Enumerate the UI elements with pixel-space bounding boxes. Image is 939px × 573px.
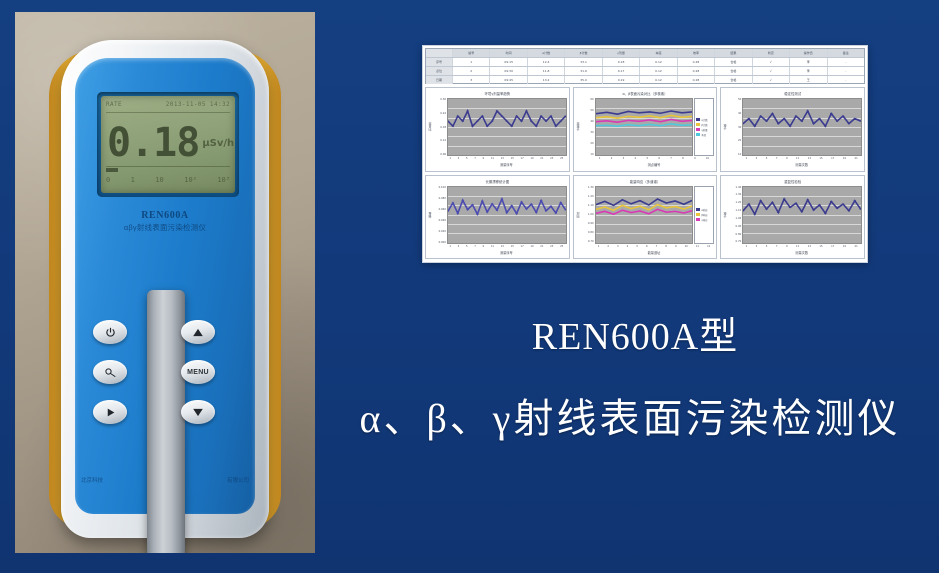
chart-data-point xyxy=(525,208,528,209)
chart-plot-area xyxy=(447,186,567,244)
chart-y-ticks: 1.301.201.101.000.900.800.70 xyxy=(581,186,595,244)
chart-y-tick: 20 xyxy=(738,139,741,142)
table-cell: 12.4 xyxy=(528,58,565,66)
chart-data-point xyxy=(605,120,607,121)
chart-data-point xyxy=(510,126,513,127)
chart-data-point xyxy=(682,212,684,213)
chart-x-tick: 7 xyxy=(474,156,476,162)
legend-swatch xyxy=(696,123,700,126)
chart-x-tick: 7 xyxy=(670,156,672,162)
chart-data-point xyxy=(777,211,780,212)
chart-data-point xyxy=(783,118,786,119)
table-column-header: 判定 xyxy=(753,49,790,57)
chart-data-point xyxy=(555,126,558,127)
device-model-text: REN600A xyxy=(75,210,255,221)
chart-x-tick: 23 xyxy=(550,244,553,250)
chart-y-tick: 1.20 xyxy=(736,201,742,204)
chart-y-ticks: 0.300.240.180.120.06 xyxy=(433,98,447,156)
chart-x-tick: 21 xyxy=(854,244,857,250)
chart-x-tick: 1 xyxy=(746,244,748,250)
chart-x-tick: 23 xyxy=(550,156,553,162)
table-cell: 13.2 xyxy=(528,76,565,84)
chart-x-tick: 3 xyxy=(756,244,758,250)
chart-data-point xyxy=(748,118,751,119)
table-cell: 0.12 xyxy=(640,67,677,75)
chart-y-ticks: 1.401.301.201.101.000.900.800.70 xyxy=(728,186,742,244)
magnifier-icon xyxy=(104,367,117,378)
chart-data-point xyxy=(682,203,684,204)
chart-data-point xyxy=(616,114,618,115)
chart-card: 环境γ剂量率趋势剂量率0.300.240.180.120.06135791113… xyxy=(425,87,570,172)
chart-series-line xyxy=(596,115,693,118)
chart-data-point xyxy=(491,121,494,122)
chart-y-ticks: 605040302010 xyxy=(581,98,595,156)
chart-data-point xyxy=(766,121,769,122)
lcd-bezel: RATE 2013-11-05 14:32 0.18 μSv/h 011010²… xyxy=(97,92,239,197)
lcd-screen: RATE 2013-11-05 14:32 0.18 μSv/h 011010²… xyxy=(101,96,235,193)
chart-data-point xyxy=(481,200,484,201)
chart-card: α、β表面污染对比（多核素）计数率605040302010α计数β计数γ剂量本底… xyxy=(573,87,718,172)
chart-data-point xyxy=(638,121,640,122)
chart-y-tick: 0.70 xyxy=(588,240,594,243)
table-column-header: 备注 xyxy=(828,49,864,57)
chart-x-tick: 17 xyxy=(831,244,834,250)
chart-y-tick: 1.40 xyxy=(736,186,742,189)
table-cell: 李 xyxy=(790,67,827,75)
chart-data-point xyxy=(670,110,672,111)
chart-data-point xyxy=(647,209,649,210)
chart-data-point xyxy=(807,110,810,111)
chart-data-point xyxy=(647,204,649,205)
table-cell: 0.12 xyxy=(640,76,677,84)
chart-series-line xyxy=(743,111,861,126)
chart-data-point xyxy=(530,203,533,204)
chart-x-tick: 13 xyxy=(808,156,811,162)
chart-series-line xyxy=(596,199,693,205)
chart-y-tick: 10 xyxy=(590,153,593,156)
chart-x-tick: 15 xyxy=(511,244,514,250)
chart-x-tick: 5 xyxy=(466,244,468,250)
chart-y-tick: 0.100 xyxy=(439,186,446,189)
chart-y-tick: 0.80 xyxy=(588,231,594,234)
chart-x-tick: 11 xyxy=(796,244,799,250)
chart-y-tick: 1.20 xyxy=(588,195,594,198)
chart-y-tick: 1.30 xyxy=(736,193,742,196)
chart-data-point xyxy=(452,126,455,127)
down-button[interactable] xyxy=(181,400,215,424)
lcd-scale-tick: 10³ xyxy=(217,176,230,184)
chart-x-tick: 7 xyxy=(474,244,476,250)
chart-data-point xyxy=(771,201,774,202)
chart-data-point xyxy=(681,125,683,126)
table-row-header: 序号 xyxy=(426,58,453,66)
chart-x-tick: 12 xyxy=(707,244,710,250)
chart-data-point xyxy=(476,121,479,122)
chart-x-tick: 11 xyxy=(491,156,494,162)
lcd-bargraph xyxy=(106,166,230,173)
chart-series-svg xyxy=(596,99,693,155)
chart-data-point xyxy=(848,210,851,211)
lcd-scale-tick: 10 xyxy=(155,176,163,184)
chart-x-tick: 21 xyxy=(540,244,543,250)
chart-data-point xyxy=(819,118,822,119)
chart-data-point xyxy=(525,110,528,111)
lcd-bargraph-fill xyxy=(106,168,118,172)
chart-data-point xyxy=(674,205,676,206)
chart-series-line xyxy=(596,204,693,210)
chart-x-tick: 19 xyxy=(843,156,846,162)
search-button[interactable] xyxy=(93,360,127,384)
chart-x-tick: 1 xyxy=(746,156,748,162)
chart-y-tick: 0.24 xyxy=(440,112,446,115)
chart-series-svg xyxy=(448,99,566,155)
chart-data-point xyxy=(754,213,757,214)
chart-data-point xyxy=(540,115,543,116)
chart-data-point xyxy=(627,124,629,125)
chart-y-tick: 1.00 xyxy=(736,217,742,220)
chart-data-point xyxy=(486,211,489,212)
chart-data-point xyxy=(515,115,518,116)
chart-y-tick: 1.30 xyxy=(588,186,594,189)
play-button[interactable] xyxy=(93,400,127,424)
chart-data-point xyxy=(842,115,845,116)
chart-data-point xyxy=(545,210,548,211)
chart-data-point xyxy=(540,199,543,200)
chart-x-tick: 9 xyxy=(675,244,677,250)
chart-x-tick: 21 xyxy=(540,156,543,162)
chart-x-tick: 1 xyxy=(449,156,451,162)
table-cell: √ xyxy=(753,67,790,75)
chart-series-line xyxy=(596,111,693,114)
table-cell: 0.28 xyxy=(678,76,715,84)
legend-item: α计数 xyxy=(696,118,712,122)
chart-series-line xyxy=(596,124,693,126)
table-column-header: 时间 xyxy=(490,49,527,57)
chart-y-tick: 0.80 xyxy=(736,233,742,236)
chart-y-tick: 10 xyxy=(738,153,741,156)
chart-data-point xyxy=(506,212,509,213)
table-cell: 0.12 xyxy=(640,58,677,66)
play-icon xyxy=(105,407,116,418)
chart-data-point xyxy=(659,113,661,114)
legend-label: α响应 xyxy=(701,208,707,212)
chart-data-point xyxy=(639,205,641,206)
chart-x-axis-label: 测量次数 xyxy=(741,162,862,169)
chart-data-point xyxy=(748,203,751,204)
chart-series-line xyxy=(448,111,566,126)
chart-y-tick: 50 xyxy=(590,109,593,112)
table-cell: 0.19 xyxy=(603,76,640,84)
chart-series-line xyxy=(596,119,693,122)
chart-data-point xyxy=(605,125,607,126)
chart-data-point xyxy=(627,111,629,112)
lcd-value: 0.18 xyxy=(107,124,199,162)
chart-series-line xyxy=(596,209,693,214)
chart-y-axis-label: 计数 xyxy=(723,98,728,156)
chart-data-point xyxy=(510,205,513,206)
table-column-header: 本底 xyxy=(640,49,677,57)
chart-data-point xyxy=(555,212,558,213)
chart-data-point xyxy=(819,204,822,205)
power-icon xyxy=(105,327,116,338)
chart-y-tick: 1.10 xyxy=(588,204,594,207)
chart-data-point xyxy=(681,121,683,122)
chart-title: 稳定性测试 xyxy=(723,90,862,98)
device-chinese-text: αβγ射线表面污染检测仪 xyxy=(75,222,255,233)
chart-data-point xyxy=(665,211,667,212)
chart-data-point xyxy=(813,209,816,210)
chart-x-tick: 4 xyxy=(635,156,637,162)
chart-data-point xyxy=(854,118,857,119)
chart-x-tick: 3 xyxy=(756,156,758,162)
device-printed-label: REN600A αβγ射线表面污染检测仪 xyxy=(75,210,255,233)
chart-card: 稳定性测试计数504030201013579111315171921测量次数 xyxy=(720,87,865,172)
chart-y-ticks: 0.1000.0800.0600.0400.0200.000 xyxy=(433,186,447,244)
chart-x-axis-label: 测点编号 xyxy=(594,162,715,169)
table-row[interactable]: 日期309:4513.235.00.190.120.28合格√王- xyxy=(426,76,864,84)
chart-data-point xyxy=(466,110,469,111)
table-column-header: β计数 xyxy=(565,49,602,57)
chart-x-tick: 9 xyxy=(483,244,485,250)
legend-swatch xyxy=(696,128,700,131)
legend-item: β响应 xyxy=(696,213,712,217)
chart-data-point xyxy=(801,121,804,122)
chart-data-point xyxy=(647,213,649,214)
legend-swatch xyxy=(696,213,700,216)
chart-plot-row: 计数率605040302010α计数β计数γ剂量本底 xyxy=(576,98,715,156)
chart-x-axis-label: 测量序号 xyxy=(446,250,567,257)
table-row[interactable]: 点位209:3011.831.60.170.120.28合格√李- xyxy=(426,67,864,76)
table-cell: 李 xyxy=(790,58,827,66)
chart-data-point xyxy=(771,113,774,114)
chart-data-point xyxy=(471,126,474,127)
table-cell: 0.28 xyxy=(678,58,715,66)
chart-legend: α计数β计数γ剂量本底 xyxy=(694,98,714,156)
table-cell: 09:30 xyxy=(490,67,527,75)
chart-data-point xyxy=(659,117,661,118)
chart-data-point xyxy=(830,200,833,201)
chart-x-tick: 19 xyxy=(530,156,533,162)
chart-data-point xyxy=(457,115,460,116)
legend-item: γ剂量 xyxy=(696,128,712,132)
chart-x-tick: 3 xyxy=(617,244,619,250)
chart-x-tick: 19 xyxy=(843,244,846,250)
chart-y-tick: 0.12 xyxy=(440,139,446,142)
chart-data-point xyxy=(824,126,827,127)
table-column-header: 操作员 xyxy=(790,49,827,57)
chart-data-point xyxy=(848,123,851,124)
table-column-header: α计数 xyxy=(528,49,565,57)
chart-data-point xyxy=(461,199,464,200)
legend-swatch xyxy=(696,133,700,136)
chart-data-point xyxy=(682,208,684,209)
chart-plot-row: 计数5040302010 xyxy=(723,98,862,156)
table-cell: 合格 xyxy=(715,58,752,66)
chart-card: 长期漂移统计图偏差0.1000.0800.0600.0400.0200.0001… xyxy=(425,175,570,260)
chart-plot-area xyxy=(595,98,694,156)
chart-x-tick: 9 xyxy=(483,156,485,162)
chart-data-point xyxy=(452,202,455,203)
up-button[interactable] xyxy=(181,320,215,344)
chart-card: 能量响应（多道谱）响应1.301.201.101.000.900.800.70α… xyxy=(573,175,718,260)
chart-data-point xyxy=(665,202,667,203)
chart-data-point xyxy=(486,126,489,127)
table-cell: 2 xyxy=(453,67,490,75)
chart-grid: 环境γ剂量率趋势剂量率0.300.240.180.120.06135791113… xyxy=(425,87,865,259)
chart-data-point xyxy=(501,198,504,199)
software-screenshot-inset: 编号时间α计数β计数γ剂量本底效率结果判定操作员备注序号109:1512.433… xyxy=(422,45,868,263)
power-button[interactable] xyxy=(93,320,127,344)
chart-x-tick: 3 xyxy=(458,244,460,250)
chart-series-line xyxy=(448,199,566,214)
chart-data-point xyxy=(520,201,523,202)
table-column-header: 编号 xyxy=(453,49,490,57)
chart-plot-row: 计数1.401.301.201.101.000.900.800.70 xyxy=(723,186,862,244)
lcd-scale: 011010²10³ xyxy=(106,176,230,184)
lcd-scale-tick: 10² xyxy=(184,176,197,184)
chart-y-tick: 0.90 xyxy=(588,222,594,225)
chart-x-tick: 3 xyxy=(458,156,460,162)
chart-x-tick: 9 xyxy=(786,156,788,162)
table-cell: 09:45 xyxy=(490,76,527,84)
chart-data-point xyxy=(627,116,629,117)
chart-data-point xyxy=(630,211,632,212)
chart-y-tick: 0.040 xyxy=(439,219,446,222)
chart-x-tick: 11 xyxy=(696,244,699,250)
table-cell: √ xyxy=(753,58,790,66)
chart-y-axis-label: 剂量率 xyxy=(428,98,433,156)
chart-x-tick: 13 xyxy=(501,244,504,250)
chart-x-tick: 9 xyxy=(786,244,788,250)
chart-series-svg xyxy=(596,187,693,243)
chart-data-point xyxy=(476,213,479,214)
chart-data-point xyxy=(836,207,839,208)
chart-title: 能量响应（多道谱） xyxy=(576,178,715,186)
device-foot-right: 有限公司 xyxy=(227,476,249,484)
chart-data-point xyxy=(638,112,640,113)
chart-y-axis-label: 计数率 xyxy=(576,98,581,156)
legend-swatch xyxy=(696,208,700,211)
chart-data-point xyxy=(777,123,780,124)
chart-data-point xyxy=(506,121,509,122)
chart-x-tick: 21 xyxy=(854,156,857,162)
device-foot-left: 北京科技 xyxy=(81,476,103,484)
chart-x-tick: 15 xyxy=(819,156,822,162)
table-cell: 35.0 xyxy=(565,76,602,84)
chart-data-point xyxy=(616,126,618,127)
chart-data-point xyxy=(670,119,672,120)
table-row[interactable]: 序号109:1512.433.10.180.120.28合格√李- xyxy=(426,58,864,67)
chart-y-tick: 60 xyxy=(590,98,593,101)
chart-data-point xyxy=(836,121,839,122)
legend-label: β计数 xyxy=(701,123,707,127)
chart-plot-row: 响应1.301.201.101.000.900.800.70α响应β响应γ响应 xyxy=(576,186,715,244)
legend-label: α计数 xyxy=(701,118,707,122)
triangle-down-icon xyxy=(192,407,204,418)
chart-data-point xyxy=(603,206,605,207)
chart-data-point xyxy=(605,112,607,113)
chart-y-tick: 0.90 xyxy=(736,225,742,228)
chart-data-point xyxy=(612,209,614,210)
table-cell: 11.8 xyxy=(528,67,565,75)
chart-data-point xyxy=(627,120,629,121)
table-cell: - xyxy=(828,58,864,66)
chart-data-point xyxy=(824,212,827,213)
lcd-divider xyxy=(106,112,230,113)
chart-data-point xyxy=(616,118,618,119)
chart-x-tick: 7 xyxy=(776,244,778,250)
triangle-up-icon xyxy=(192,327,204,338)
table-cell: 合格 xyxy=(715,76,752,84)
chart-series-svg xyxy=(448,187,566,243)
slide-root: RATE 2013-11-05 14:32 0.18 μSv/h 011010²… xyxy=(0,0,939,573)
chart-x-tick: 3 xyxy=(623,156,625,162)
legend-item: 本底 xyxy=(696,133,712,137)
chart-series-svg xyxy=(743,99,861,155)
table-cell: - xyxy=(828,76,864,84)
table-cell: 王 xyxy=(790,76,827,84)
chart-x-tick: 13 xyxy=(808,244,811,250)
chart-data-point xyxy=(648,124,650,125)
chart-y-tick: 0.30 xyxy=(440,98,446,101)
chart-data-point xyxy=(760,200,763,201)
chart-plot-row: 偏差0.1000.0800.0600.0400.0200.000 xyxy=(428,186,567,244)
chart-data-point xyxy=(621,199,623,200)
chart-plot-area xyxy=(742,98,862,156)
chart-data-point xyxy=(612,213,614,214)
chart-data-point xyxy=(801,211,804,212)
title-block: REN600A型 α、β、γ射线表面污染检测仪 xyxy=(330,305,930,444)
chart-title: 环境γ剂量率趋势 xyxy=(428,90,567,98)
chart-data-point xyxy=(481,115,484,116)
chart-data-point xyxy=(854,200,857,201)
legend-label: γ响应 xyxy=(701,218,707,222)
chart-x-tick: 10 xyxy=(685,244,688,250)
chart-x-tick: 11 xyxy=(491,244,494,250)
chart-data-point xyxy=(466,209,469,210)
chart-y-tick: 40 xyxy=(738,112,741,115)
menu-button[interactable]: MENU xyxy=(181,360,215,384)
lcd-status-left: RATE xyxy=(106,101,122,108)
chart-data-point xyxy=(656,198,658,199)
table-cell: 31.6 xyxy=(565,67,602,75)
table-row-header: 点位 xyxy=(426,67,453,75)
table-cell: 3 xyxy=(453,76,490,84)
chart-data-point xyxy=(842,203,845,204)
chart-x-tick: 9 xyxy=(694,156,696,162)
chart-x-tick: 6 xyxy=(646,244,648,250)
radiation-detector-device: RATE 2013-11-05 14:32 0.18 μSv/h 011010²… xyxy=(47,32,283,542)
menu-button-label: MENU xyxy=(187,369,209,376)
chart-x-tick: 17 xyxy=(521,156,524,162)
chart-y-tick: 50 xyxy=(738,98,741,101)
chart-data-point xyxy=(520,121,523,122)
chart-data-point xyxy=(630,207,632,208)
table-column-header: γ剂量 xyxy=(603,49,640,57)
chart-x-tick: 1 xyxy=(449,244,451,250)
chart-data-point xyxy=(665,207,667,208)
product-model-title: REN600A型 xyxy=(340,305,930,360)
chart-data-point xyxy=(659,121,661,122)
chart-data-point xyxy=(638,125,640,126)
table-cell: 1 xyxy=(453,58,490,66)
chart-title: 长期漂移统计图 xyxy=(428,178,567,186)
chart-y-axis-label: 偏差 xyxy=(428,186,433,244)
chart-data-point xyxy=(681,117,683,118)
chart-data-point xyxy=(530,121,533,122)
chart-data-point xyxy=(559,202,562,203)
chart-title: 重复性检验 xyxy=(723,178,862,186)
